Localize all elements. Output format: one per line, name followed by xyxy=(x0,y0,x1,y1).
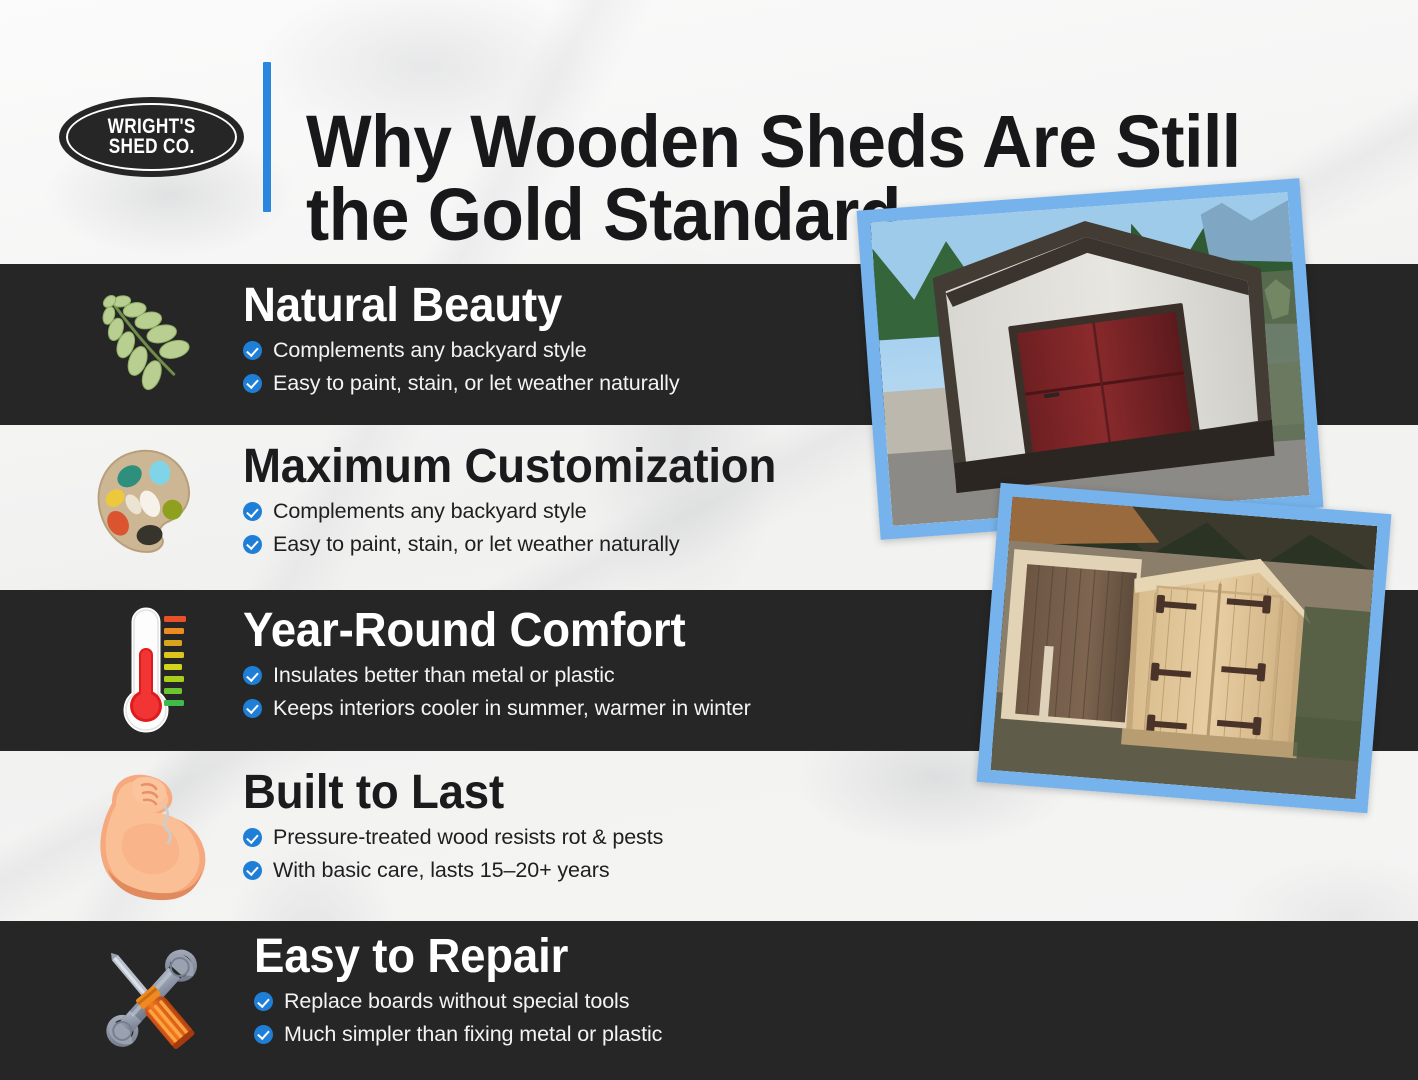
section-heading: Built to Last xyxy=(243,768,908,818)
shed-photo-white-red-door[interactable] xyxy=(857,178,1324,540)
check-circle-icon xyxy=(243,666,262,685)
shed-photo-tan-double-door-image xyxy=(991,497,1378,799)
section-heading: Easy to Repair xyxy=(254,932,919,982)
brand-logo[interactable]: WRIGHT'S SHED CO. xyxy=(59,97,244,177)
bullet-text: Replace boards without special tools xyxy=(284,988,629,1015)
artist-palette-icon xyxy=(82,438,208,564)
wrench-screwdriver-icon-art xyxy=(88,936,214,1062)
flexed-bicep-icon xyxy=(82,762,218,908)
flexed-bicep-icon-art xyxy=(86,765,214,905)
section-bullet-list: Pressure-treated wood resists rot & pest… xyxy=(243,824,943,884)
bullet-text: Complements any backyard style xyxy=(273,337,587,364)
herb-branch-icon-art xyxy=(84,282,202,398)
section-easy-to-repair: Easy to Repair Replace boards without sp… xyxy=(254,932,954,1054)
check-circle-icon xyxy=(254,1025,273,1044)
section-bullet-list: Complements any backyard style Easy to p… xyxy=(243,498,923,558)
section-natural-beauty: Natural Beauty Complements any backyard … xyxy=(243,281,843,403)
section-heading: Year-Round Comfort xyxy=(243,606,908,656)
bullet-text: Keeps interiors cooler in summer, warmer… xyxy=(273,695,751,722)
section-year-round-comfort: Year-Round Comfort Insulates better than… xyxy=(243,606,943,728)
check-circle-icon xyxy=(254,992,273,1011)
bullet-item: Insulates better than metal or plastic xyxy=(243,662,943,689)
bullet-item: With basic care, lasts 15–20+ years xyxy=(243,857,943,884)
title-accent-bar xyxy=(263,62,271,212)
bullet-text: Pressure-treated wood resists rot & pest… xyxy=(273,824,663,851)
shed-photo-white-red-door-image xyxy=(870,192,1309,526)
thermometer-icon xyxy=(94,604,206,736)
section-bullet-list: Complements any backyard style Easy to p… xyxy=(243,337,843,397)
section-heading: Maximum Customization xyxy=(243,442,889,492)
section-maximum-customization: Maximum Customization Complements any ba… xyxy=(243,442,923,564)
shed-tan-double-door-illustration xyxy=(991,497,1378,799)
shed-photo-tan-double-door[interactable] xyxy=(977,483,1392,813)
section-bullet-list: Replace boards without special tools Muc… xyxy=(254,988,954,1048)
bullet-item: Complements any backyard style xyxy=(243,498,923,525)
check-circle-icon xyxy=(243,699,262,718)
bullet-text: Much simpler than fixing metal or plasti… xyxy=(284,1021,662,1048)
section-heading: Natural Beauty xyxy=(243,281,813,331)
artist-palette-icon-art xyxy=(87,443,203,559)
bullet-item: Complements any backyard style xyxy=(243,337,843,364)
check-circle-icon xyxy=(243,374,262,393)
check-circle-icon xyxy=(243,535,262,554)
bullet-item: Pressure-treated wood resists rot & pest… xyxy=(243,824,943,851)
check-circle-icon xyxy=(243,502,262,521)
bullet-text: Complements any backyard style xyxy=(273,498,587,525)
check-circle-icon xyxy=(243,861,262,880)
thermometer-icon-art xyxy=(104,606,196,734)
check-circle-icon xyxy=(243,341,262,360)
infographic-canvas: WRIGHT'S SHED CO. Why Wooden Sheds Are S… xyxy=(0,0,1418,1080)
bullet-text: Easy to paint, stain, or let weather nat… xyxy=(273,531,680,558)
bullet-text: Insulates better than metal or plastic xyxy=(273,662,615,689)
bullet-item: Replace boards without special tools xyxy=(254,988,954,1015)
shed-white-red-door-illustration xyxy=(870,192,1309,526)
section-built-to-last: Built to Last Pressure-treated wood resi… xyxy=(243,768,943,890)
bullet-item: Keeps interiors cooler in summer, warmer… xyxy=(243,695,943,722)
logo-text-block: WRIGHT'S SHED CO. xyxy=(107,117,195,157)
bullet-item: Easy to paint, stain, or let weather nat… xyxy=(243,370,843,397)
bullet-text: Easy to paint, stain, or let weather nat… xyxy=(273,370,680,397)
herb-branch-icon xyxy=(78,278,208,402)
section-bullet-list: Insulates better than metal or plastic K… xyxy=(243,662,943,722)
bullet-item: Much simpler than fixing metal or plasti… xyxy=(254,1021,954,1048)
bullet-item: Easy to paint, stain, or let weather nat… xyxy=(243,531,923,558)
wrench-screwdriver-icon xyxy=(84,932,218,1066)
logo-line-1: WRIGHT'S xyxy=(107,117,195,137)
logo-line-2: SHED CO. xyxy=(107,137,195,157)
check-circle-icon xyxy=(243,828,262,847)
bullet-text: With basic care, lasts 15–20+ years xyxy=(273,857,609,884)
